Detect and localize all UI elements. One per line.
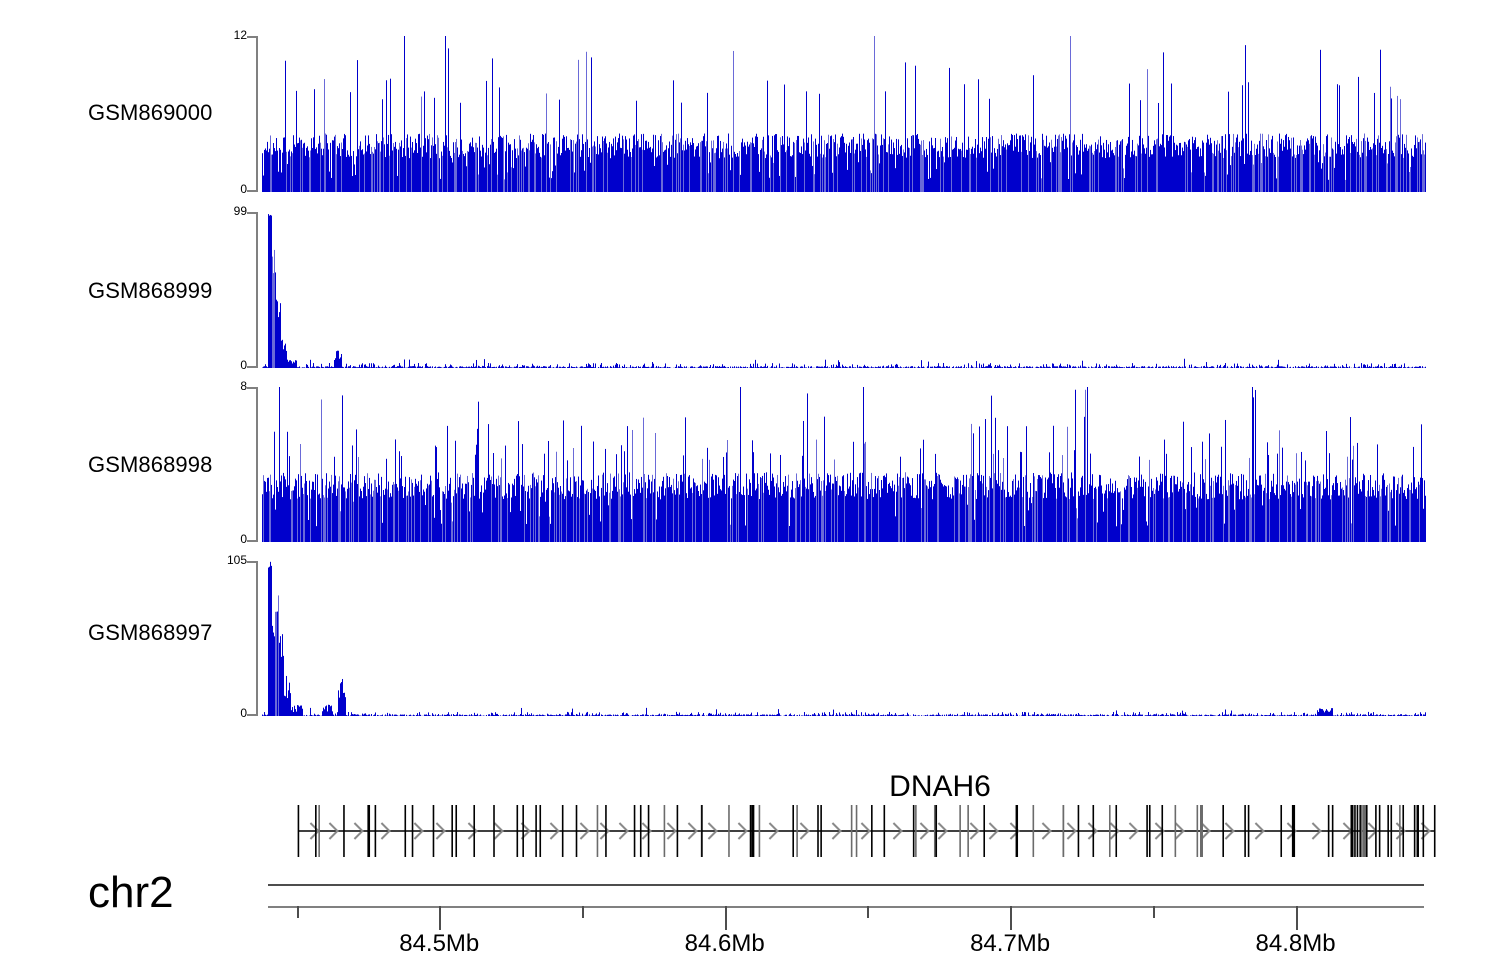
ruler-minor-tick [1153,906,1155,918]
track-2-axis-line [256,212,258,368]
ruler-major-tick [439,906,441,930]
track-3-axis-max: 8 [240,379,247,393]
track-label-2: GSM868999 [88,278,212,304]
ruler-top-line [268,884,1424,886]
track-2-axis-max: 99 [234,204,247,218]
ruler-major-tick [1010,906,1012,930]
track-4-signal [262,561,1426,716]
ruler-major-tick [725,906,727,930]
track-4-axis-max: 105 [227,553,247,567]
ruler-tick-label: 84.8Mb [1256,930,1336,958]
ruler-minor-tick [867,906,869,918]
track-2-plot [262,212,1426,368]
ruler-axis-line [268,906,1424,908]
chromosome-label: chr2 [88,868,174,918]
gene-track[interactable] [262,795,1442,865]
ruler-major-tick [1296,906,1298,930]
track-4-plot [262,561,1426,716]
track-GSM868997: GSM868997 105 0 [0,0,1500,200]
ruler-tick-label: 84.5Mb [399,930,479,958]
track-label-3: GSM868998 [88,452,212,478]
track-3-plot [262,387,1426,542]
ruler-tick-label: 84.6Mb [685,930,765,958]
ruler-tick-label: 84.7Mb [970,930,1050,958]
track-3-axis-min: 0 [240,532,247,546]
ruler-minor-tick [582,906,584,918]
track-3-signal [262,387,1426,542]
genome-browser-view: GSM869000 12 0 GSM868999 99 0 GSM868998 … [0,0,1500,980]
track-4-axis-min: 0 [240,706,247,720]
ruler-minor-tick [297,906,299,918]
track-label-4: GSM868997 [88,620,212,646]
track-4-axis-line [256,561,258,716]
track-2-axis-min: 0 [240,358,247,372]
gene-model [262,795,1442,865]
track-3-axis-line [256,387,258,542]
track-2-signal [262,212,1426,368]
